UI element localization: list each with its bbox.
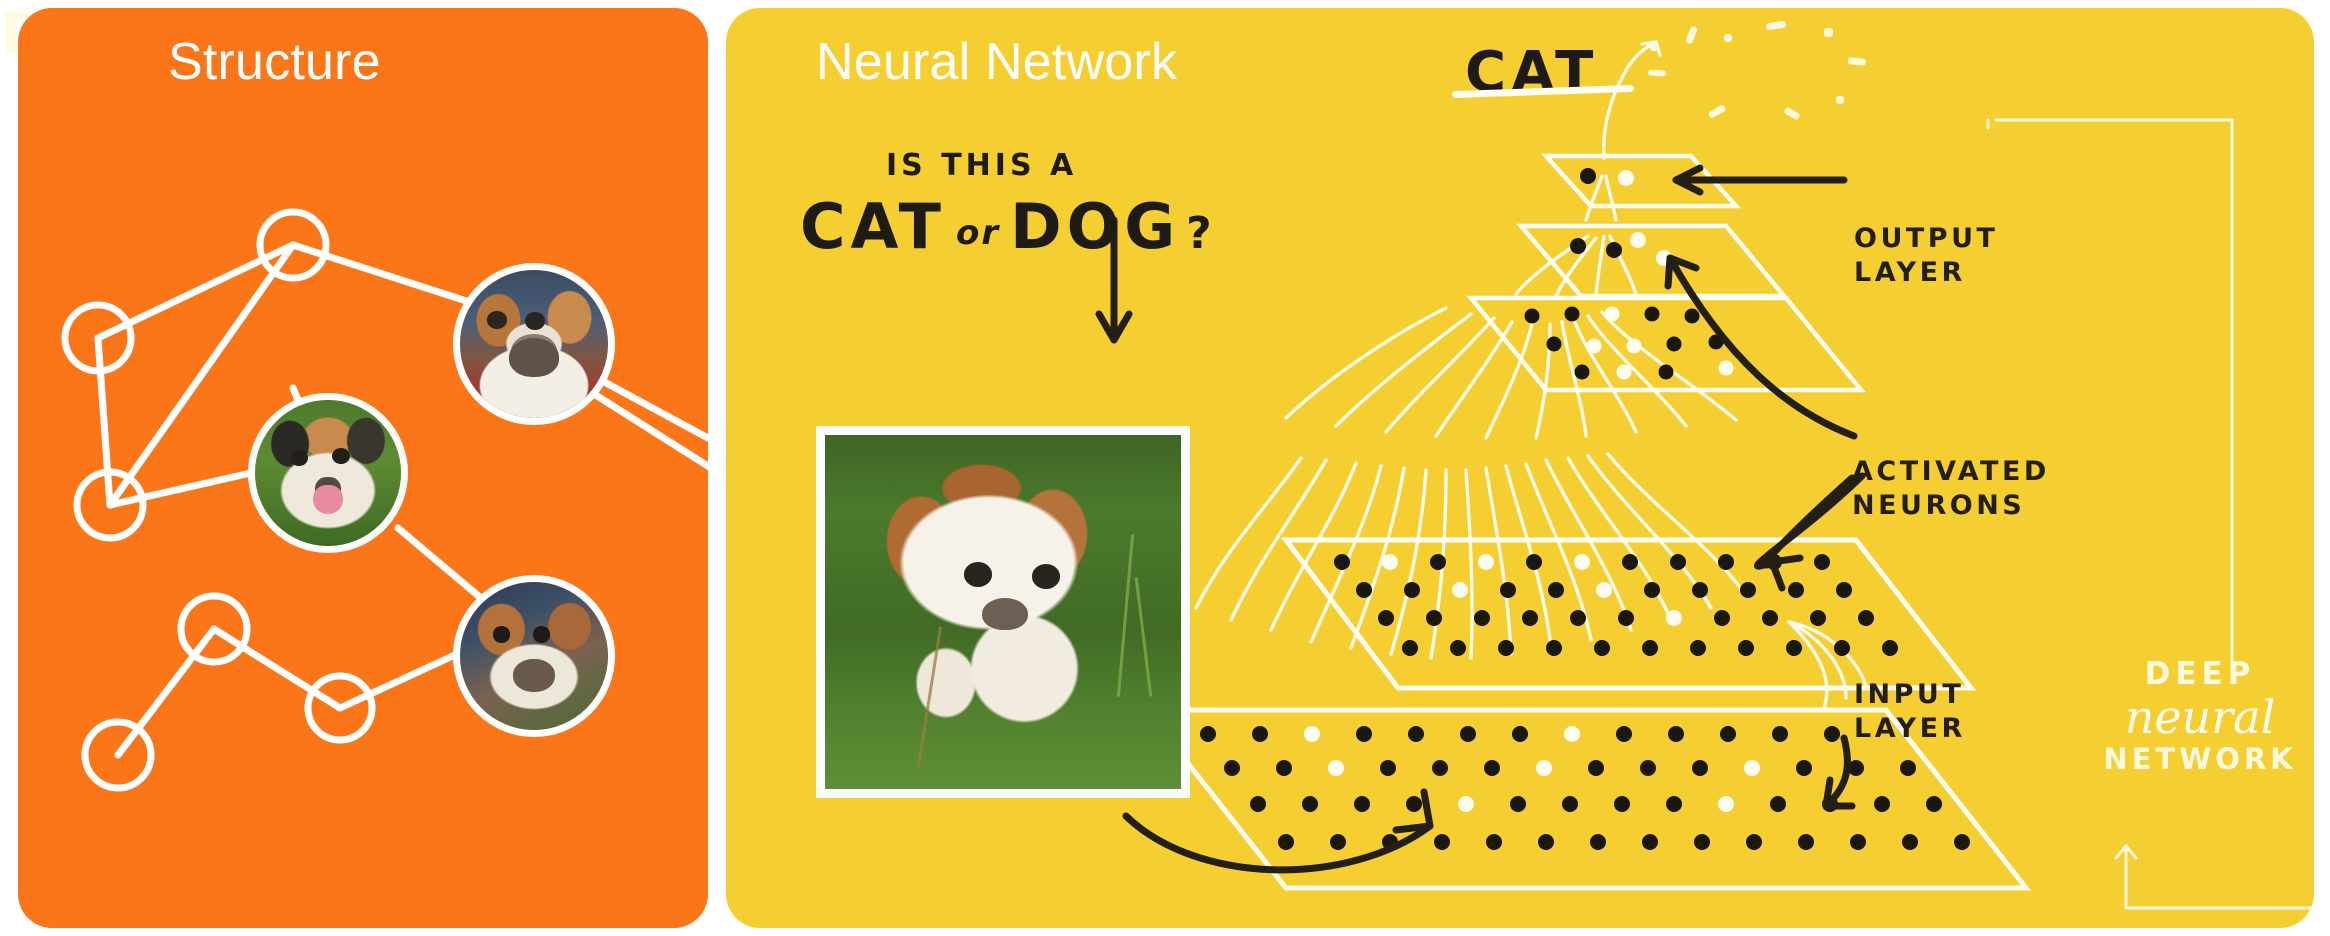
activated-neurons-label: ACTIVATED NEURONS <box>1852 455 2050 523</box>
sparkle-mark <box>1836 96 1844 104</box>
output-layer-label: OUTPUT LAYER <box>1854 222 1998 290</box>
layer-hidden0-neurons <box>1334 554 1898 656</box>
layer-hidden1-neurons <box>1525 307 1734 380</box>
sparkle-mark <box>1724 34 1732 42</box>
question-mark: ? <box>1180 208 1214 259</box>
activated-neurons-label-line1: ACTIVATED <box>1852 455 2050 489</box>
sparkle-mark <box>1648 69 1666 76</box>
output-layer-label-line2: LAYER <box>1854 256 1998 290</box>
question-dog: DOG <box>1010 190 1180 263</box>
deep-neural-network-caption: DEEP neural NETWORK <box>2090 656 2310 776</box>
infographic-canvas: Structure <box>0 0 2330 936</box>
input-photo-frame[interactable] <box>816 426 1190 798</box>
caption-network: NETWORK <box>2090 742 2310 776</box>
caption-neural: neural <box>2090 694 2310 740</box>
question-line2: CATorDOG? <box>800 190 1214 263</box>
output-layer-label-line1: OUTPUT <box>1854 222 1998 256</box>
caption-deep: DEEP <box>2145 656 2256 692</box>
activated-neurons-label-line2: NEURONS <box>1852 489 2050 523</box>
input-layer-label: INPUT LAYER <box>1854 678 1966 746</box>
sparkle-mark <box>1824 28 1833 37</box>
bulldog-puppy-photo <box>825 435 1181 789</box>
question-or: or <box>946 213 1010 253</box>
input-layer-label-line1: INPUT <box>1854 678 1966 712</box>
sparkle-mark <box>1650 44 1657 51</box>
input-layer-label-line2: LAYER <box>1854 712 1966 746</box>
question-cat: CAT <box>800 190 946 263</box>
question-line1: IS THIS A <box>886 148 1077 183</box>
